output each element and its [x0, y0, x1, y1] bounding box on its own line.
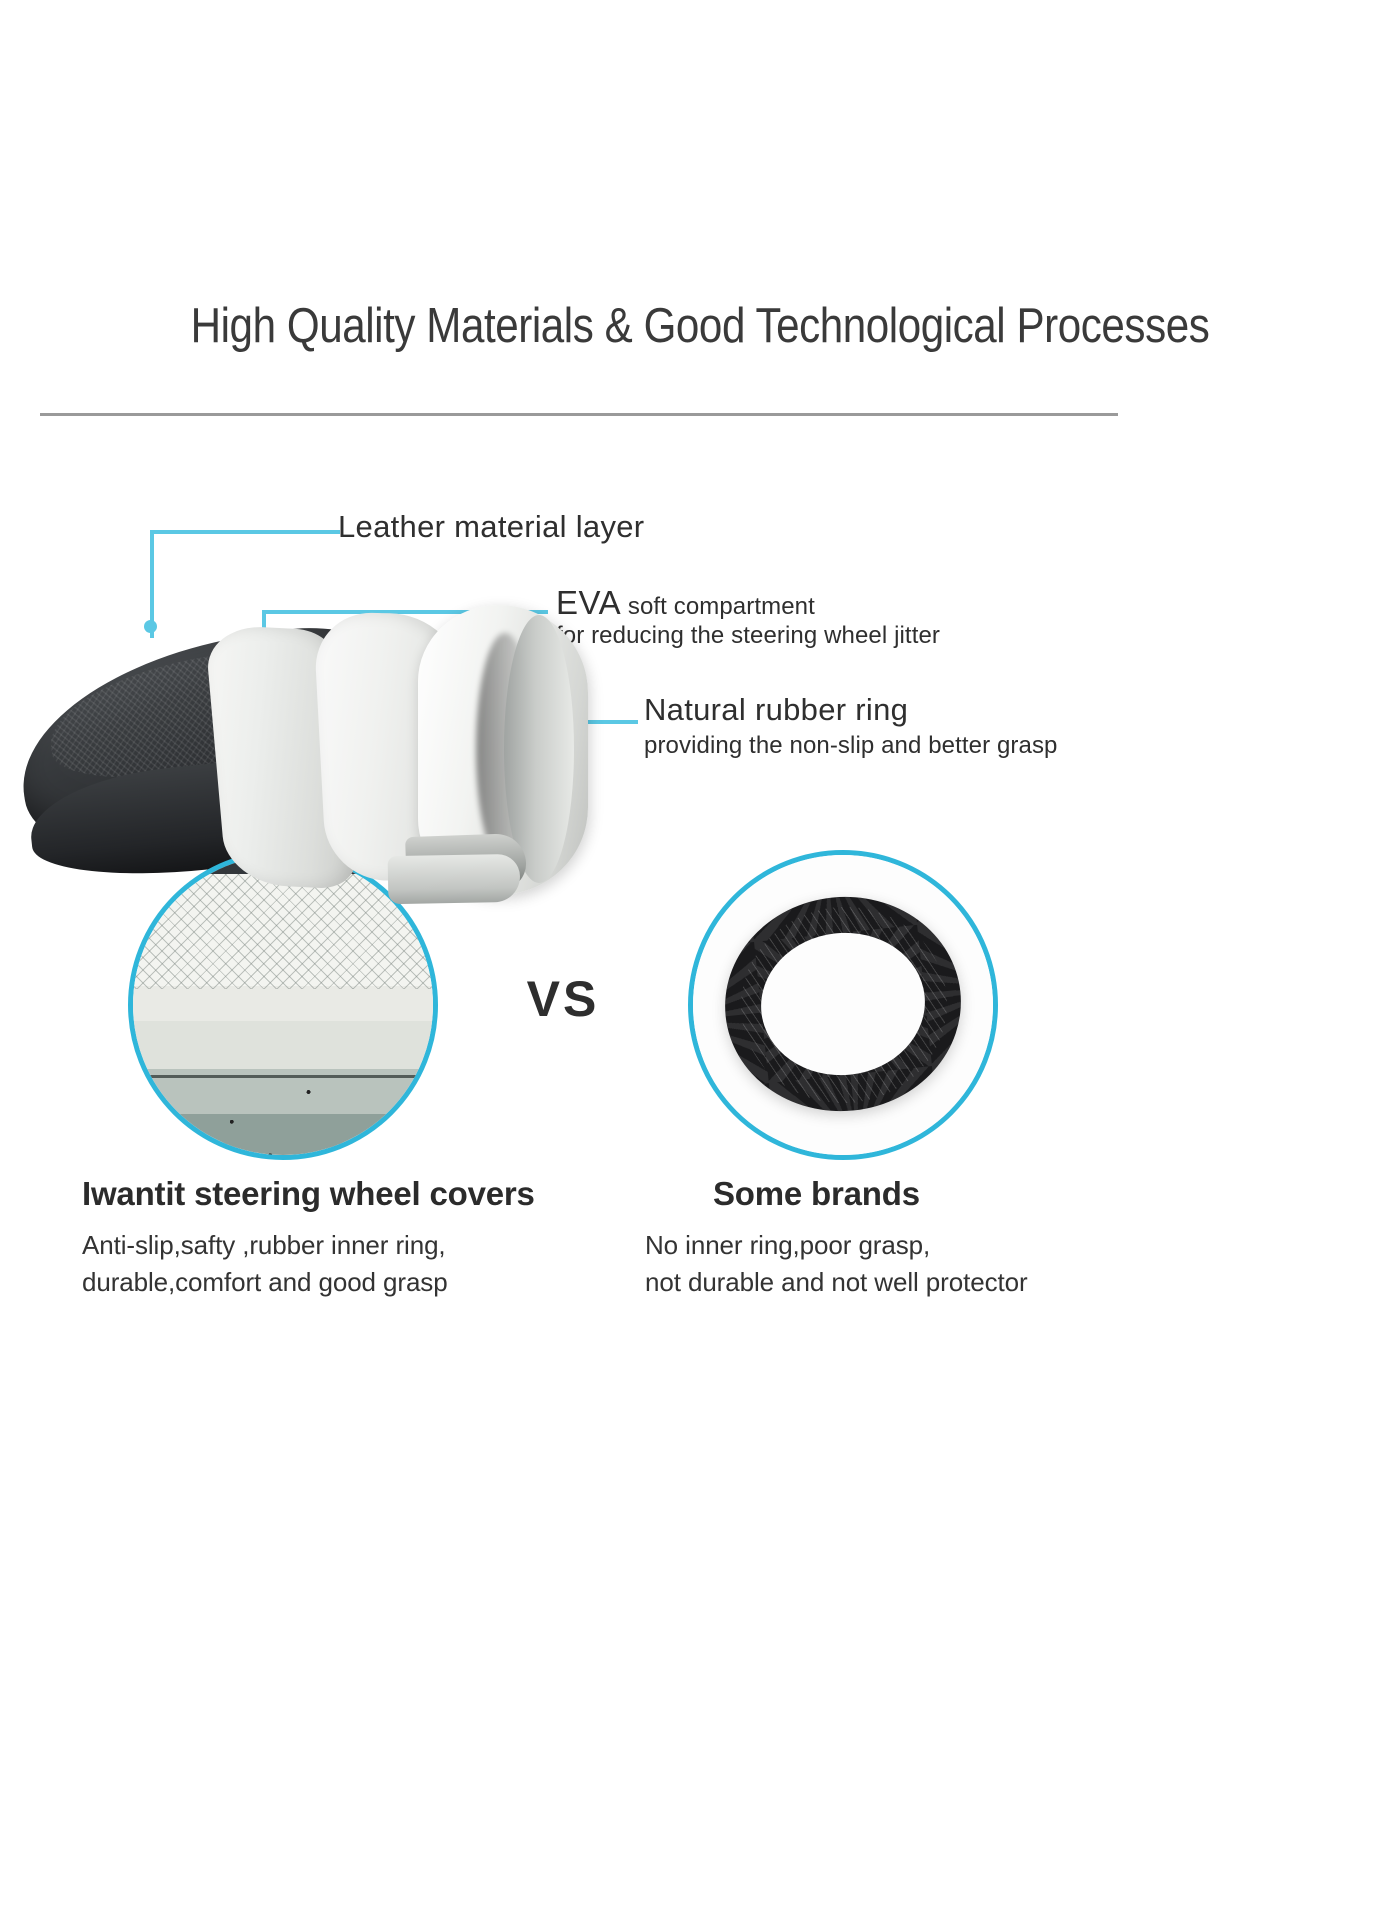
other-brand-cover-photo	[688, 850, 998, 1160]
callout-eva-rest: soft compartment	[621, 593, 815, 620]
callout-rubber-subtitle: providing the non-slip and better grasp	[644, 732, 1058, 760]
caption-some-brands-line-1: No inner ring,poor grasp,	[645, 1227, 1028, 1264]
infographic-page: High Quality Materials & Good Technologi…	[0, 0, 1400, 1909]
rubber-inner-ring-dots	[128, 1069, 438, 1160]
caption-some-brands-line-2: not durable and not well protector	[645, 1264, 1028, 1301]
page-title: High Quality Materials & Good Technologi…	[98, 298, 1302, 354]
header-divider	[40, 413, 1118, 416]
caption-some-brands-heading: Some brands	[645, 1175, 1028, 1213]
caption-iwantit-body: Anti-slip,safty ,rubber inner ring, dura…	[82, 1227, 535, 1301]
caption-iwantit: Iwantit steering wheel covers Anti-slip,…	[82, 1175, 535, 1301]
caption-iwantit-line-1: Anti-slip,safty ,rubber inner ring,	[82, 1227, 535, 1264]
caption-iwantit-heading: Iwantit steering wheel covers	[82, 1175, 535, 1213]
caption-some-brands-body: No inner ring,poor grasp, not durable an…	[645, 1227, 1028, 1301]
callout-rubber-title: Natural rubber ring	[644, 692, 908, 728]
callout-leather-title: Leather material layer	[338, 509, 644, 545]
product-photo-other-brand	[688, 850, 998, 1160]
caption-iwantit-line-2: durable,comfort and good grasp	[82, 1264, 535, 1301]
callout-eva-subtitle: for reducing the steering wheel jitter	[556, 622, 940, 650]
leader-dot-leather	[144, 620, 157, 633]
caption-some-brands: Some brands No inner ring,poor grasp, no…	[645, 1175, 1028, 1301]
vs-label: VS	[498, 970, 628, 1028]
material-layers-diagram: Leather material layer EVA soft compartm…	[0, 470, 1140, 890]
inner-channel-lower	[388, 854, 521, 904]
